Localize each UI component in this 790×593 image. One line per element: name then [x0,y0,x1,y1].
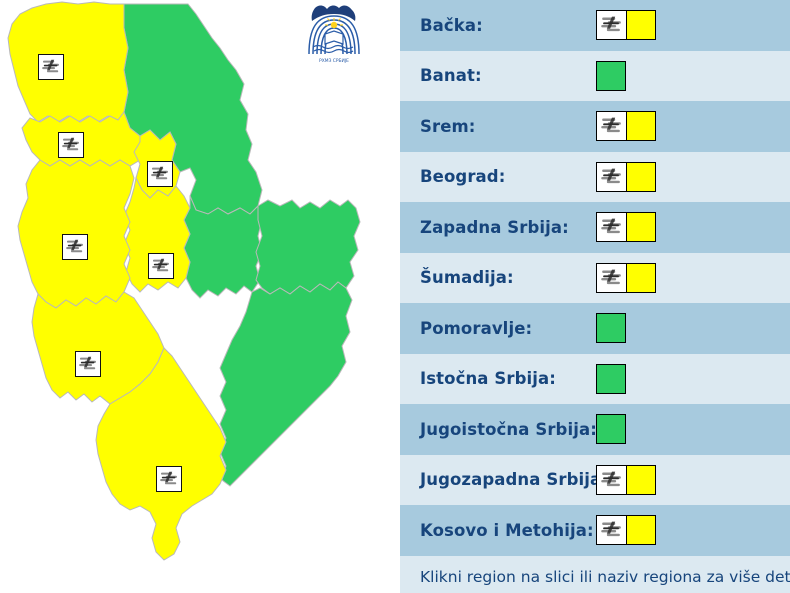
region-label[interactable]: Jugoistočna Srbija: [420,420,596,439]
region-row-zapadna-srbija[interactable]: Zapadna Srbija: [400,202,790,253]
region-rows: Bačka:Banat:Srem:Beograd:Zapadna Srbija:… [400,0,790,556]
region-row-banat[interactable]: Banat: [400,51,790,102]
map-fog-icon[interactable] [62,234,88,260]
alert-swatch-group [596,515,656,545]
map-fog-icon[interactable] [75,351,101,377]
region-label[interactable]: Pomoravlje: [420,319,596,338]
fog-icon [596,515,626,545]
alert-swatch-group [596,111,656,141]
fog-icon [596,10,626,40]
region-label[interactable]: Banat: [420,66,596,85]
alert-level-yellow [626,515,656,545]
alert-level-yellow [626,111,656,141]
alert-level-yellow [626,465,656,495]
alert-level-green [596,414,626,444]
alert-level-green [596,313,626,343]
alert-swatch-group [596,10,656,40]
alert-level-yellow [626,212,656,242]
region-label[interactable]: Zapadna Srbija: [420,218,596,237]
map-region-istocna-srbija[interactable] [256,200,360,294]
alert-swatch-group [596,61,626,91]
map-svg[interactable] [0,0,392,593]
region-row-beograd[interactable]: Beograd: [400,152,790,203]
alert-swatch-group [596,263,656,293]
rhmz-serbia-logo: РХМЗ СРБИЈЕ [301,0,367,66]
alert-swatch-group [596,414,626,444]
region-label[interactable]: Beograd: [420,167,596,186]
region-label[interactable]: Kosovo i Metohija: [420,521,596,540]
map-region-backa[interactable] [8,2,128,122]
alert-swatch-group [596,465,656,495]
weather-alert-page: РХМЗ СРБИЈЕ Bačka:Banat:Srem:Beograd:Zap… [0,0,790,593]
map-hint-note: Klikni region na slici ili naziv regiona… [400,556,790,593]
map-region-jugoistocna-srbija[interactable] [220,282,352,486]
region-alert-list: Bačka:Banat:Srem:Beograd:Zapadna Srbija:… [392,0,790,593]
fog-icon [596,162,626,192]
region-label[interactable]: Istočna Srbija: [420,369,596,388]
alert-swatch-group [596,212,656,242]
alert-level-green [596,61,626,91]
fog-icon [596,465,626,495]
alert-level-yellow [626,263,656,293]
alert-swatch-group [596,364,626,394]
region-label[interactable]: Jugozapadna Srbija: [420,470,596,489]
fog-icon [596,263,626,293]
map-fog-icon[interactable] [58,132,84,158]
region-row-isto-na-srbija[interactable]: Istočna Srbija: [400,354,790,405]
logo-caption: РХМЗ СРБИЈЕ [319,58,349,64]
fog-icon [596,111,626,141]
alert-swatch-group [596,313,626,343]
alert-swatch-group [596,162,656,192]
region-row--umadija[interactable]: Šumadija: [400,253,790,304]
region-row-srem[interactable]: Srem: [400,101,790,152]
region-row-pomoravlje[interactable]: Pomoravlje: [400,303,790,354]
alert-level-green [596,364,626,394]
serbia-alert-map[interactable]: РХМЗ СРБИЈЕ [0,0,392,593]
region-row-ba-ka[interactable]: Bačka: [400,0,790,51]
region-row-jugozapadna-srbija[interactable]: Jugozapadna Srbija: [400,455,790,506]
map-fog-icon[interactable] [38,54,64,80]
map-fog-icon[interactable] [147,161,173,187]
region-row-kosovo-i-metohija[interactable]: Kosovo i Metohija: [400,505,790,556]
map-fog-icon[interactable] [148,253,174,279]
region-label[interactable]: Srem: [420,117,596,136]
map-fog-icon[interactable] [156,466,182,492]
alert-level-yellow [626,162,656,192]
region-label[interactable]: Bačka: [420,16,596,35]
region-label[interactable]: Šumadija: [420,268,596,287]
fog-icon [596,212,626,242]
map-hint-text: Klikni region na slici ili naziv regiona… [420,568,790,586]
alert-level-yellow [626,10,656,40]
region-row-jugoisto-na-srbija[interactable]: Jugoistočna Srbija: [400,404,790,455]
